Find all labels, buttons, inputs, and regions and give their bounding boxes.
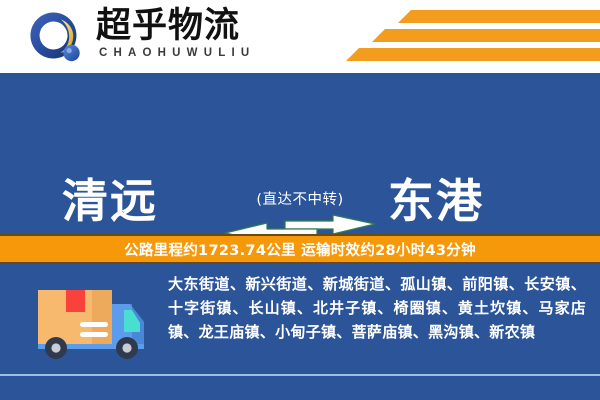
distance-duration-text: 公路里程约1723.74公里 运输时效约28小时43分钟 [124,239,476,260]
stripe-2 [372,29,600,42]
brand-name-cn: 超乎物流 [96,6,240,46]
stripe-3 [346,48,600,61]
destination-city: 东港 [388,175,484,227]
origin-city: 清远 [62,175,158,227]
brand-name-en: CHAOHUWULIU [99,47,255,59]
decorative-stripes [330,8,600,66]
route-note-direct: (直达不中转) [215,191,385,209]
brand-header: 超乎物流 CHAOHUWULIU [0,0,600,72]
delivery-truck-icon [32,282,152,360]
circle-q-logo-icon [28,10,84,66]
footer-panel [0,376,600,400]
stripe-1 [398,10,600,23]
logistics-route-banner: 超乎物流 CHAOHUWULIU 清远 (直达不中转) 【往返运输】 东港 公路… [0,0,600,400]
coverage-areas-text: 大东街道、新兴街道、新城街道、孤山镇、前阳镇、长安镇、十字街镇、长山镇、北井子镇… [168,272,586,344]
distance-duration-bar: 公路里程约1723.74公里 运输时效约28小时43分钟 [0,234,600,264]
route-panel: 清远 (直达不中转) 【往返运输】 东港 [0,73,600,234]
